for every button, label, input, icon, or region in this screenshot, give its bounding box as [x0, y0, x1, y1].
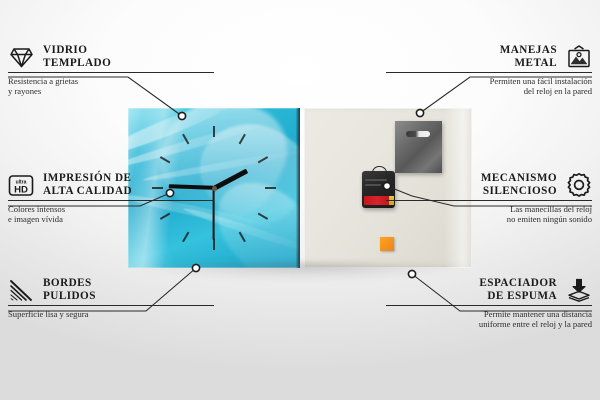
feature-description: Superficie lisa y segura	[8, 309, 214, 319]
feature-rule	[8, 72, 214, 73]
feature-rule	[386, 72, 592, 73]
feature-rule	[8, 305, 214, 306]
feature-manejas-metal: MANEJAS METAL Permiten una fácil instala…	[386, 44, 592, 97]
ultra-hd-badge-icon: ultra HD	[8, 172, 34, 198]
feature-description: Las manecillas del reloj no emiten ningú…	[386, 204, 592, 225]
hanger-slot	[406, 131, 430, 137]
clock-hour-hand	[213, 169, 248, 190]
feature-description: Resistencia a grietas y rayones	[8, 76, 214, 97]
movement-detail	[365, 184, 381, 186]
feature-description: Permite mantener una distancia uniforme …	[386, 309, 592, 330]
feature-title: ESPACIADOR DE ESPUMA	[479, 277, 557, 302]
foam-spacer	[380, 237, 394, 251]
foam-spacer-icon	[566, 277, 592, 303]
feature-espaciador-espuma: ESPACIADOR DE ESPUMA Permite mantener un…	[386, 277, 592, 330]
feature-mecanismo-silencioso: MECANISMO SILENCIOSO Las manecillas del …	[386, 172, 592, 225]
svg-text:HD: HD	[14, 184, 28, 195]
movement-hook	[372, 166, 387, 174]
infographic-canvas: VIDRIO TEMPLADO Resistencia a grietas y …	[0, 0, 600, 400]
movement-detail	[365, 179, 387, 181]
feature-title: MANEJAS METAL	[500, 44, 557, 69]
feature-description: Permiten una fácil instalación del reloj…	[386, 76, 592, 97]
feature-rule	[386, 305, 592, 306]
feature-impresion-alta-calidad: ultra HD IMPRESIÓN DE ALTA CALIDAD Color…	[8, 172, 214, 225]
feature-bordes-pulidos: BORDES PULIDOS Superficie lisa y segura	[8, 277, 214, 319]
diamond-icon	[8, 44, 34, 70]
feature-title: MECANISMO SILENCIOSO	[481, 172, 557, 197]
feature-vidrio-templado: VIDRIO TEMPLADO Resistencia a grietas y …	[8, 44, 214, 97]
feature-title: BORDES PULIDOS	[43, 277, 96, 302]
gear-icon	[566, 172, 592, 198]
feature-description: Colores intensos e imagen vívida	[8, 204, 214, 225]
feature-title: IMPRESIÓN DE ALTA CALIDAD	[43, 172, 132, 197]
feature-rule	[8, 200, 214, 201]
feature-title: VIDRIO TEMPLADO	[43, 44, 111, 69]
polished-edges-icon	[8, 277, 34, 303]
metal-hanger-plate	[395, 121, 442, 173]
glass-edge	[296, 108, 300, 268]
picture-hanger-icon	[566, 44, 592, 70]
feature-rule	[386, 200, 592, 201]
